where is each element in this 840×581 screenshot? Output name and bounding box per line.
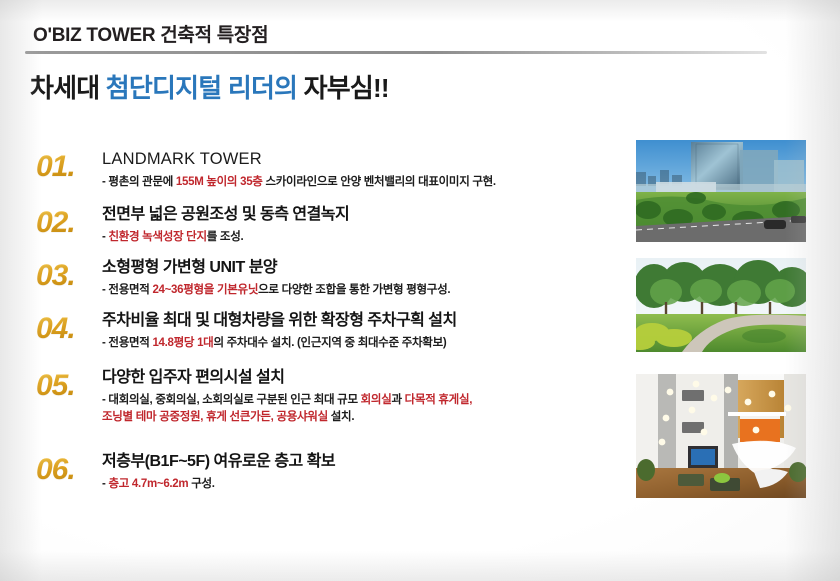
- feature-desc-6: - 층고 4.7m~6.2m 구성.: [102, 476, 622, 493]
- feature-body-4: 주차비율 최대 및 대형차량을 위한 확장형 주차구획 설치- 전용면적 14.…: [102, 312, 622, 352]
- feature-desc-3: - 전용면적 24~36평형을 기본유닛으로 다양한 조합을 통한 가변형 평형…: [102, 282, 622, 299]
- feature-body-6: 저층부(B1F~5F) 여유로운 층고 확보- 층고 4.7m~6.2m 구성.: [102, 453, 622, 493]
- feature-number-3: 03.: [36, 259, 75, 293]
- feature-number-1: 01.: [36, 150, 75, 184]
- feature-body-5: 다양한 입주자 편의시설 설치- 대회의실, 중회의실, 소회의실로 구분된 인…: [102, 369, 622, 426]
- interior-atrium-lounge-render: [636, 374, 806, 498]
- feature-title-3: 소형평형 가변형 UNIT 분양: [102, 259, 622, 277]
- feature-list: 01.LANDMARK TOWER- 평촌의 관문에 155M 높이의 35층 …: [0, 0, 620, 581]
- feature-number-4: 04.: [36, 312, 75, 346]
- feature-body-2: 전면부 넓은 공원조성 및 동측 연결녹지- 친환경 녹색성장 단지를 조성.: [102, 206, 622, 246]
- feature-title-6: 저층부(B1F~5F) 여유로운 층고 확보: [102, 453, 622, 471]
- feature-number-2: 02.: [36, 206, 75, 240]
- feature-desc-5: - 대회의실, 중회의실, 소회의실로 구분된 인근 최대 규모 회의실과 다목…: [102, 392, 622, 425]
- feature-number-6: 06.: [36, 453, 75, 487]
- landmark-tower-park-aerial-photo: [636, 140, 806, 242]
- slide-canvas: O'BIZ TOWER 건축적 특장점 차세대 첨단디지털 리더의 자부심!! …: [0, 0, 840, 581]
- feature-desc-1: - 평촌의 관문에 155M 높이의 35층 스카이라인으로 안양 벤처밸리의 …: [102, 174, 622, 191]
- feature-body-3: 소형평형 가변형 UNIT 분양- 전용면적 24~36평형을 기본유닛으로 다…: [102, 259, 622, 299]
- feature-number-5: 05.: [36, 369, 75, 403]
- feature-desc-2: - 친환경 녹색성장 단지를 조성.: [102, 229, 622, 246]
- feature-title-4: 주차비율 최대 및 대형차량을 위한 확장형 주차구획 설치: [102, 312, 622, 330]
- feature-title-5: 다양한 입주자 편의시설 설치: [102, 369, 622, 387]
- connected-green-park-photo: [636, 258, 806, 352]
- feature-body-1: LANDMARK TOWER- 평촌의 관문에 155M 높이의 35층 스카이…: [102, 150, 622, 191]
- feature-title-2: 전면부 넓은 공원조성 및 동측 연결녹지: [102, 206, 622, 224]
- feature-title-1: LANDMARK TOWER: [102, 150, 622, 169]
- feature-desc-4: - 전용면적 14.8평당 1대의 주차대수 설치. (인근지역 중 최대수준 …: [102, 335, 622, 352]
